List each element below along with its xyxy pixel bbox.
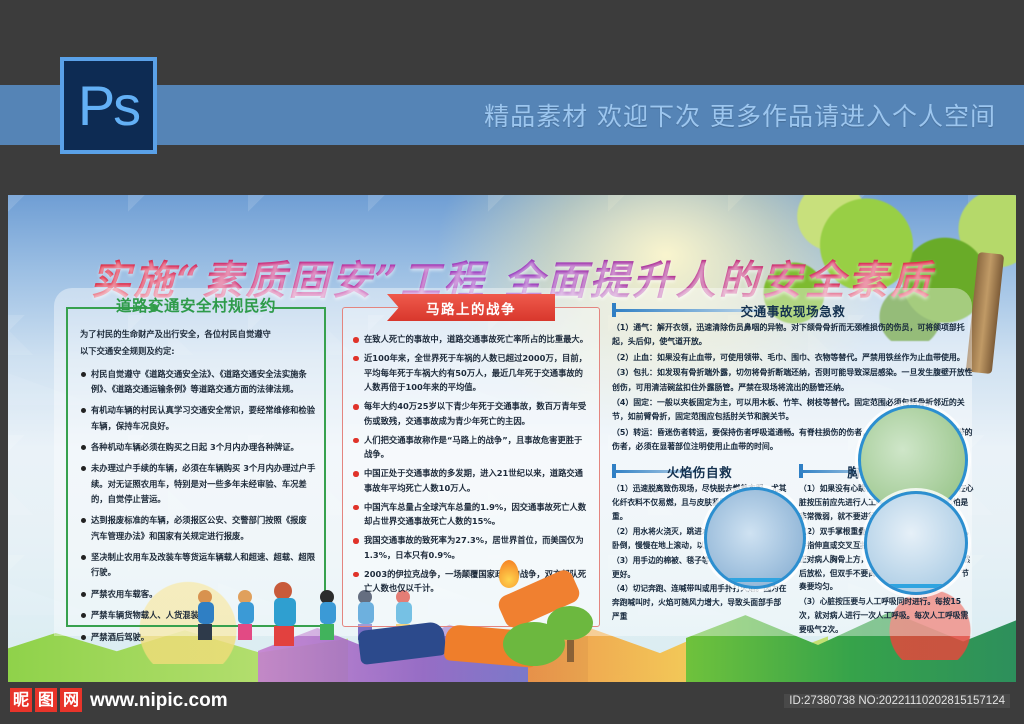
panel-road-war-ribbon: 马路上的战争 [387,294,555,321]
flame-icon [499,560,519,588]
site-footer: 昵 图 网 www.nipic.com ID:27380738 NO:20221… [0,682,1024,724]
kid-body [238,602,254,624]
list-item: 每年大约40万25岁以下青少年死于交通事故，数百万青年受伤或致残，交通事故成为青… [353,399,590,429]
illustration-cpr-demo [864,491,968,595]
kid-figure [274,582,296,646]
photoshop-icon: Ps [60,57,157,154]
kid-legs [274,626,294,646]
paragraph: （3）心脏按压要与人工呼吸同时进行。每按15次，就对病人进行一次人工呼吸。每次人… [799,595,974,637]
village-rules-lead-line-1: 为了村民的生命财产及出行安全，各位村民自觉遵守 [80,327,316,342]
section-first-aid-header: 交通事故现场急救 [612,301,974,321]
list-item: 中国正处于交通事故的多发期，进入21世纪以来，道路交通事故年平均死亡人数10万人… [353,466,590,496]
logo-char: 网 [60,688,82,712]
list-item: 有机动车辆的村民认真学习交通安全常识，要经常维修和检验车辆，保持车况良好。 [80,403,316,434]
bubble-underline [722,578,787,582]
section-burn-header: 火焰伤自救 [612,462,787,482]
nipic-logo: 昵 图 网 [10,688,82,712]
logo-char: 图 [35,688,57,712]
paragraph: （1）通气：解开衣领，迅速清除伤员鼻咽的异物。对下颌骨骨折而无颈椎损伤的伤员，可… [612,321,974,350]
section-first-aid-title: 交通事故现场急救 [612,301,974,320]
panel-village-rules-title: 道路交通安全村规民约 [66,294,326,316]
section-burn-title: 火焰伤自救 [612,462,787,481]
list-item: 未办理过户手续的车辆，必须在车辆购买 3个月内办理过户手续。对无证照农用车，特别… [80,461,316,507]
kid-legs [238,624,252,640]
panel-road-war-title: 马路上的战争 [426,298,516,318]
asset-id-label: ID:27380738 NO:20221110202815157124 [784,694,1010,708]
site-url: www.nipic.com [90,690,228,712]
paragraph: （3）包扎：如发现有骨折端外露，切勿将骨折断端还纳，否则可能导致深层感染。一旦发… [612,366,974,395]
logo-char: 昵 [10,688,32,712]
tree-trunk [567,640,574,662]
illustration-car-crash [353,556,593,676]
list-item: 近100年来，全世界死于车祸的人数已超过2000万，目前，平均每年死于车祸大约有… [353,351,590,395]
list-item: 在致人死亡的事故中，道路交通事故死亡率所占的比重最大。 [353,332,590,347]
kid-figure [198,590,214,640]
kid-body [274,598,296,626]
village-rules-lead: 为了村民的生命财产及出行安全，各位村民自觉遵守 以下交通安全规则及约定: [80,327,316,360]
kid-figure [238,590,254,640]
illustration-fire-rescue [704,487,806,589]
list-item: 村民自觉遵守《道路交通安全法》、《道路交通安全法实施条 例》、《道路交通运输条例… [80,367,316,398]
kid-figure [320,590,336,640]
panel-emergency-aid: 交通事故现场急救 （1）通气：解开衣领，迅速清除伤员鼻咽的异物。对下颌骨骨折而无… [612,301,974,646]
kid-body [320,602,336,624]
photoshop-icon-label: Ps [78,78,139,134]
list-item: 达到报废标准的车辆，必须报区公安、交警部门按照《报废 汽车管理办法》和国家有关规… [80,513,316,544]
kid-body [198,602,214,624]
list-item: 各种机动车辆必须在购买之日起 3个月内办理各种牌证。 [80,440,316,455]
car-blue-icon [357,621,447,665]
village-rules-lead-line-2: 以下交通安全规则及约定: [80,344,316,359]
kid-legs [320,624,334,640]
list-item: 中国汽车总量占全球汽车总量的1.9%，因交通事故死亡人数却占世界交通事故死亡人数… [353,500,590,530]
paragraph: （2）止血：如果没有止血带，可使用领带、毛巾、围巾、衣物等替代。严禁用铁丝作为止… [612,351,974,365]
tree-small-icon [547,606,593,660]
kid-legs [198,624,212,640]
screenshot-root: 精品素材 欢迎下次 更多作品请进入个人空间 Ps 实施“素质固安”工程 全面提升… [0,0,1024,724]
bubble-underline [883,584,950,588]
tree-crown [547,606,593,640]
poster-canvas: 实施“素质固安”工程 全面提升人的安全素质 道路交通安全村规民约 为了村民的生命… [8,195,1016,682]
list-item: 人们把交通事故称作是“马路上的战争”，且事故危害更胜于战争。 [353,433,590,463]
